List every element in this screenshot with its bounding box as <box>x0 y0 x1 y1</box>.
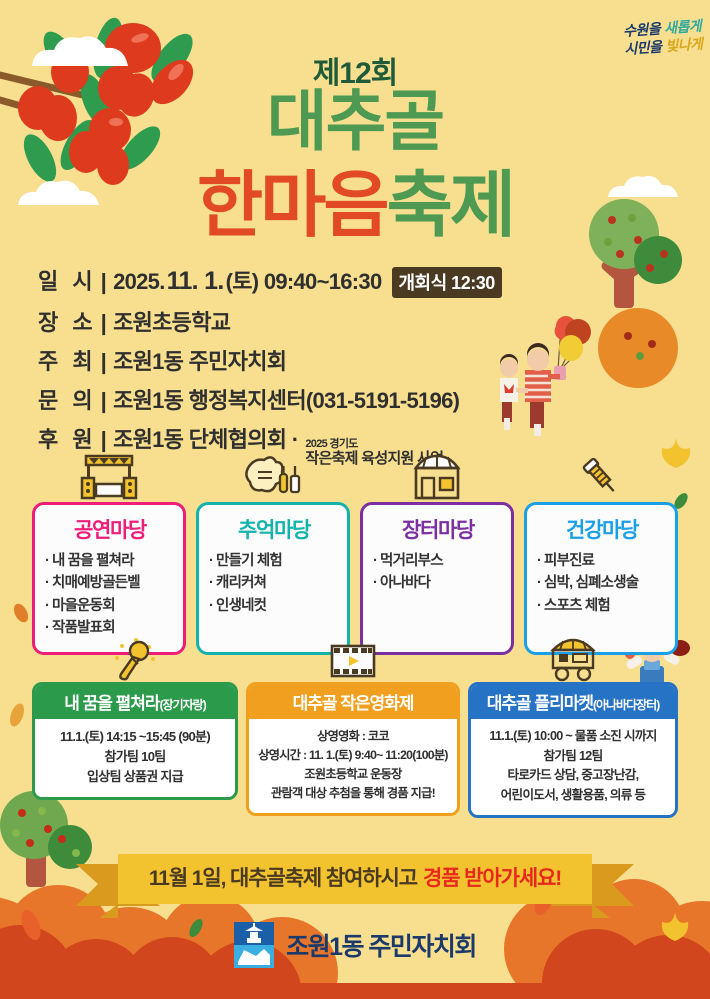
madang-title-performance: 공연마당 <box>45 514 175 544</box>
festival-title-sub: 한마음축제 <box>0 170 710 242</box>
event-subtitle-flea-market: (아나바다장터) <box>593 698 659 712</box>
promo-ribbon-text: 11월 1일, 대추골축제 참여하시고 경품 받아가세요! <box>0 844 710 910</box>
leaf-decoration-left <box>8 600 34 626</box>
list-item: 스포츠 체험 <box>537 595 667 617</box>
opening-ceremony-badge: 개회식 12:30 <box>392 267 502 298</box>
list-item: 캐리커쳐 <box>209 572 339 594</box>
syringe-icon <box>574 454 628 500</box>
festival-title-main: 대추골 <box>0 88 710 154</box>
event-title-talent-show: 내 꿈을 펼쳐라 <box>64 694 159 713</box>
market-cart-icon-wrap <box>468 638 678 682</box>
event-header-film-festival: 대추골 작은영화제 <box>249 685 457 719</box>
festival-title-sub-green: 축제 <box>387 166 513 246</box>
event-box-flea-market: 대추골 플리마켓(아나바다장터) 11.1.(토) 10:00 ~ 물품 소진 … <box>468 682 678 818</box>
market-cart-icon <box>545 638 601 682</box>
promo-text-red: 경품 받아가세요! <box>423 862 561 892</box>
event-detail-line: 입상팀 상품권 지급 <box>39 767 231 787</box>
festival-info-block: 일 시 | 2025. 11. 1. (토) 09:40~16:30 개회식 1… <box>38 264 598 473</box>
info-divider: | <box>101 269 106 295</box>
madang-items-health: 피부진료 심박, 심폐소생술 스포츠 체험 <box>537 550 667 617</box>
event-body-talent-show: 11.1.(토) 14:15 ~15:45 (90분) 참가팀 10팀 입상팀 … <box>35 719 235 797</box>
info-value-contact: 조원1동 행정복지센터(031-5191-5196) <box>113 383 459 415</box>
info-value-time: (토) 09:40~16:30 <box>226 264 382 296</box>
info-row-contact: 문 의 | 조원1동 행정복지센터(031-5191-5196) <box>38 383 598 415</box>
stage-icon <box>78 454 140 500</box>
suwon-emblem-icon <box>234 922 274 968</box>
madang-icon-row <box>32 452 678 500</box>
madang-items-market: 먹거리부스 아나바다 <box>373 550 503 595</box>
craft-icon-wrap <box>196 452 350 500</box>
event-subtitle-talent-show: (장기자랑) <box>160 698 206 712</box>
event-title-film-festival: 대추골 작은영화제 <box>293 694 414 713</box>
event-icon-row <box>32 638 678 682</box>
list-item: 먹거리부스 <box>373 550 503 572</box>
event-detail-line: 어린이도서, 생활용품, 의류 등 <box>475 786 671 806</box>
info-divider: | <box>101 349 106 375</box>
list-item: 아나바다 <box>373 572 503 594</box>
info-value-year: 2025. <box>113 269 165 295</box>
info-label-contact: 문 의 <box>38 383 97 415</box>
footer: 조원1동 주민자치회 <box>0 922 710 968</box>
festival-title-sub-red: 한마음 <box>197 166 387 246</box>
info-label-sponsor: 후 원 <box>38 422 97 454</box>
madang-title-health: 건강마당 <box>537 514 667 544</box>
list-item: 작품발표회 <box>45 617 175 639</box>
info-label-date: 일 시 <box>38 264 97 296</box>
madang-items-performance: 내 꿈을 펼쳐라 치매예방골든벨 마을운동회 작품발표회 <box>45 550 175 640</box>
stage-icon-wrap <box>32 452 186 500</box>
shop-icon-wrap <box>360 452 514 500</box>
madang-box-row: 공연마당 내 꿈을 펼쳐라 치매예방골든벨 마을운동회 작품발표회 추억마당 만… <box>32 502 678 655</box>
event-header-talent-show: 내 꿈을 펼쳐라(장기자랑) <box>35 685 235 719</box>
info-value-date: 11. 1. <box>167 267 224 296</box>
madang-box-memory: 추억마당 만들기 체험 캐리커쳐 인생네컷 <box>196 502 350 655</box>
info-row-place: 장 소 | 조원초등학교 <box>38 305 598 337</box>
event-detail-line: 관람객 대상 추첨을 통해 경품 지급! <box>253 784 453 803</box>
info-value-place: 조원초등학교 <box>113 305 230 337</box>
madang-box-performance: 공연마당 내 꿈을 펼쳐라 치매예방골든벨 마을운동회 작품발표회 <box>32 502 186 655</box>
info-row-date: 일 시 | 2025. 11. 1. (토) 09:40~16:30 개회식 1… <box>38 264 598 298</box>
list-item: 인생네컷 <box>209 595 339 617</box>
info-row-host: 주 최 | 조원1동 주민자치회 <box>38 344 598 376</box>
list-item: 만들기 체험 <box>209 550 339 572</box>
event-body-flea-market: 11.1.(토) 10:00 ~ 물품 소진 시까지 참가팀 12팀 타로카드 … <box>471 719 675 815</box>
info-value-sponsor: 조원1동 단체협의회 · <box>113 422 298 454</box>
info-divider: | <box>101 427 106 453</box>
shop-icon <box>408 454 466 500</box>
event-detail-line: 타로카드 상담, 중고장난감, <box>475 766 671 786</box>
info-label-host: 주 최 <box>38 344 97 376</box>
leaf-decoration-left-2 <box>4 700 30 730</box>
promo-ribbon: 11월 1일, 대추골축제 참여하시고 경품 받아가세요! <box>0 848 710 910</box>
event-detail-line: 참가팀 12팀 <box>475 747 671 767</box>
microphone-icon <box>112 638 158 682</box>
event-box-film-festival: 대추골 작은영화제 상영영화 : 코코 상영시간 : 11. 1.(토) 9:4… <box>246 682 460 816</box>
info-value-host: 조원1동 주민자치회 <box>113 344 286 376</box>
event-box-row: 내 꿈을 펼쳐라(장기자랑) 11.1.(토) 14:15 ~15:45 (90… <box>32 682 678 818</box>
film-icon <box>329 640 377 682</box>
event-detail-line: 11.1.(토) 14:15 ~15:45 (90분) <box>39 727 231 747</box>
event-detail-line: 조원초등학교 운동장 <box>253 765 453 784</box>
promo-text-dark: 11월 1일, 대추골축제 참여하시고 <box>149 862 417 892</box>
list-item: 심박, 심폐소생술 <box>537 572 667 594</box>
list-item: 내 꿈을 펼쳐라 <box>45 550 175 572</box>
festival-poster: 수원을 새롭게 시민을 빛나게 제12회 대추골 한마음축제 일 시 | 202… <box>0 0 710 999</box>
event-title-flea-market: 대추골 플리마켓 <box>487 694 593 713</box>
list-item: 마을운동회 <box>45 595 175 617</box>
madang-items-memory: 만들기 체험 캐리커쳐 인생네컷 <box>209 550 339 617</box>
event-detail-line: 참가팀 10팀 <box>39 747 231 767</box>
madang-box-health: 건강마당 피부진료 심박, 심폐소생술 스포츠 체험 <box>524 502 678 655</box>
event-header-flea-market: 대추골 플리마켓(아나바다장터) <box>471 685 675 719</box>
sponsor-program-year: 2025 경기도 <box>305 439 443 451</box>
craft-icon <box>244 454 302 500</box>
info-divider: | <box>101 310 106 336</box>
madang-box-market: 장터마당 먹거리부스 아나바다 <box>360 502 514 655</box>
microphone-icon-wrap <box>32 638 238 682</box>
madang-title-market: 장터마당 <box>373 514 503 544</box>
footer-organization: 조원1동 주민자치회 <box>286 927 476 963</box>
event-detail-line: 상영영화 : 코코 <box>253 727 453 746</box>
info-divider: | <box>101 388 106 414</box>
event-detail-line: 11.1.(토) 10:00 ~ 물품 소진 시까지 <box>475 727 671 747</box>
event-detail-line: 상영시간 : 11. 1.(토) 9:40~ 11:20(100분) <box>253 746 453 765</box>
event-box-talent-show: 내 꿈을 펼쳐라(장기자랑) 11.1.(토) 14:15 ~15:45 (90… <box>32 682 238 800</box>
list-item: 치매예방골든벨 <box>45 572 175 594</box>
film-icon-wrap <box>246 638 460 682</box>
event-body-film-festival: 상영영화 : 코코 상영시간 : 11. 1.(토) 9:40~ 11:20(1… <box>249 719 457 813</box>
syringe-icon-wrap <box>524 452 678 500</box>
list-item: 피부진료 <box>537 550 667 572</box>
madang-title-memory: 추억마당 <box>209 514 339 544</box>
info-label-place: 장 소 <box>38 305 97 337</box>
